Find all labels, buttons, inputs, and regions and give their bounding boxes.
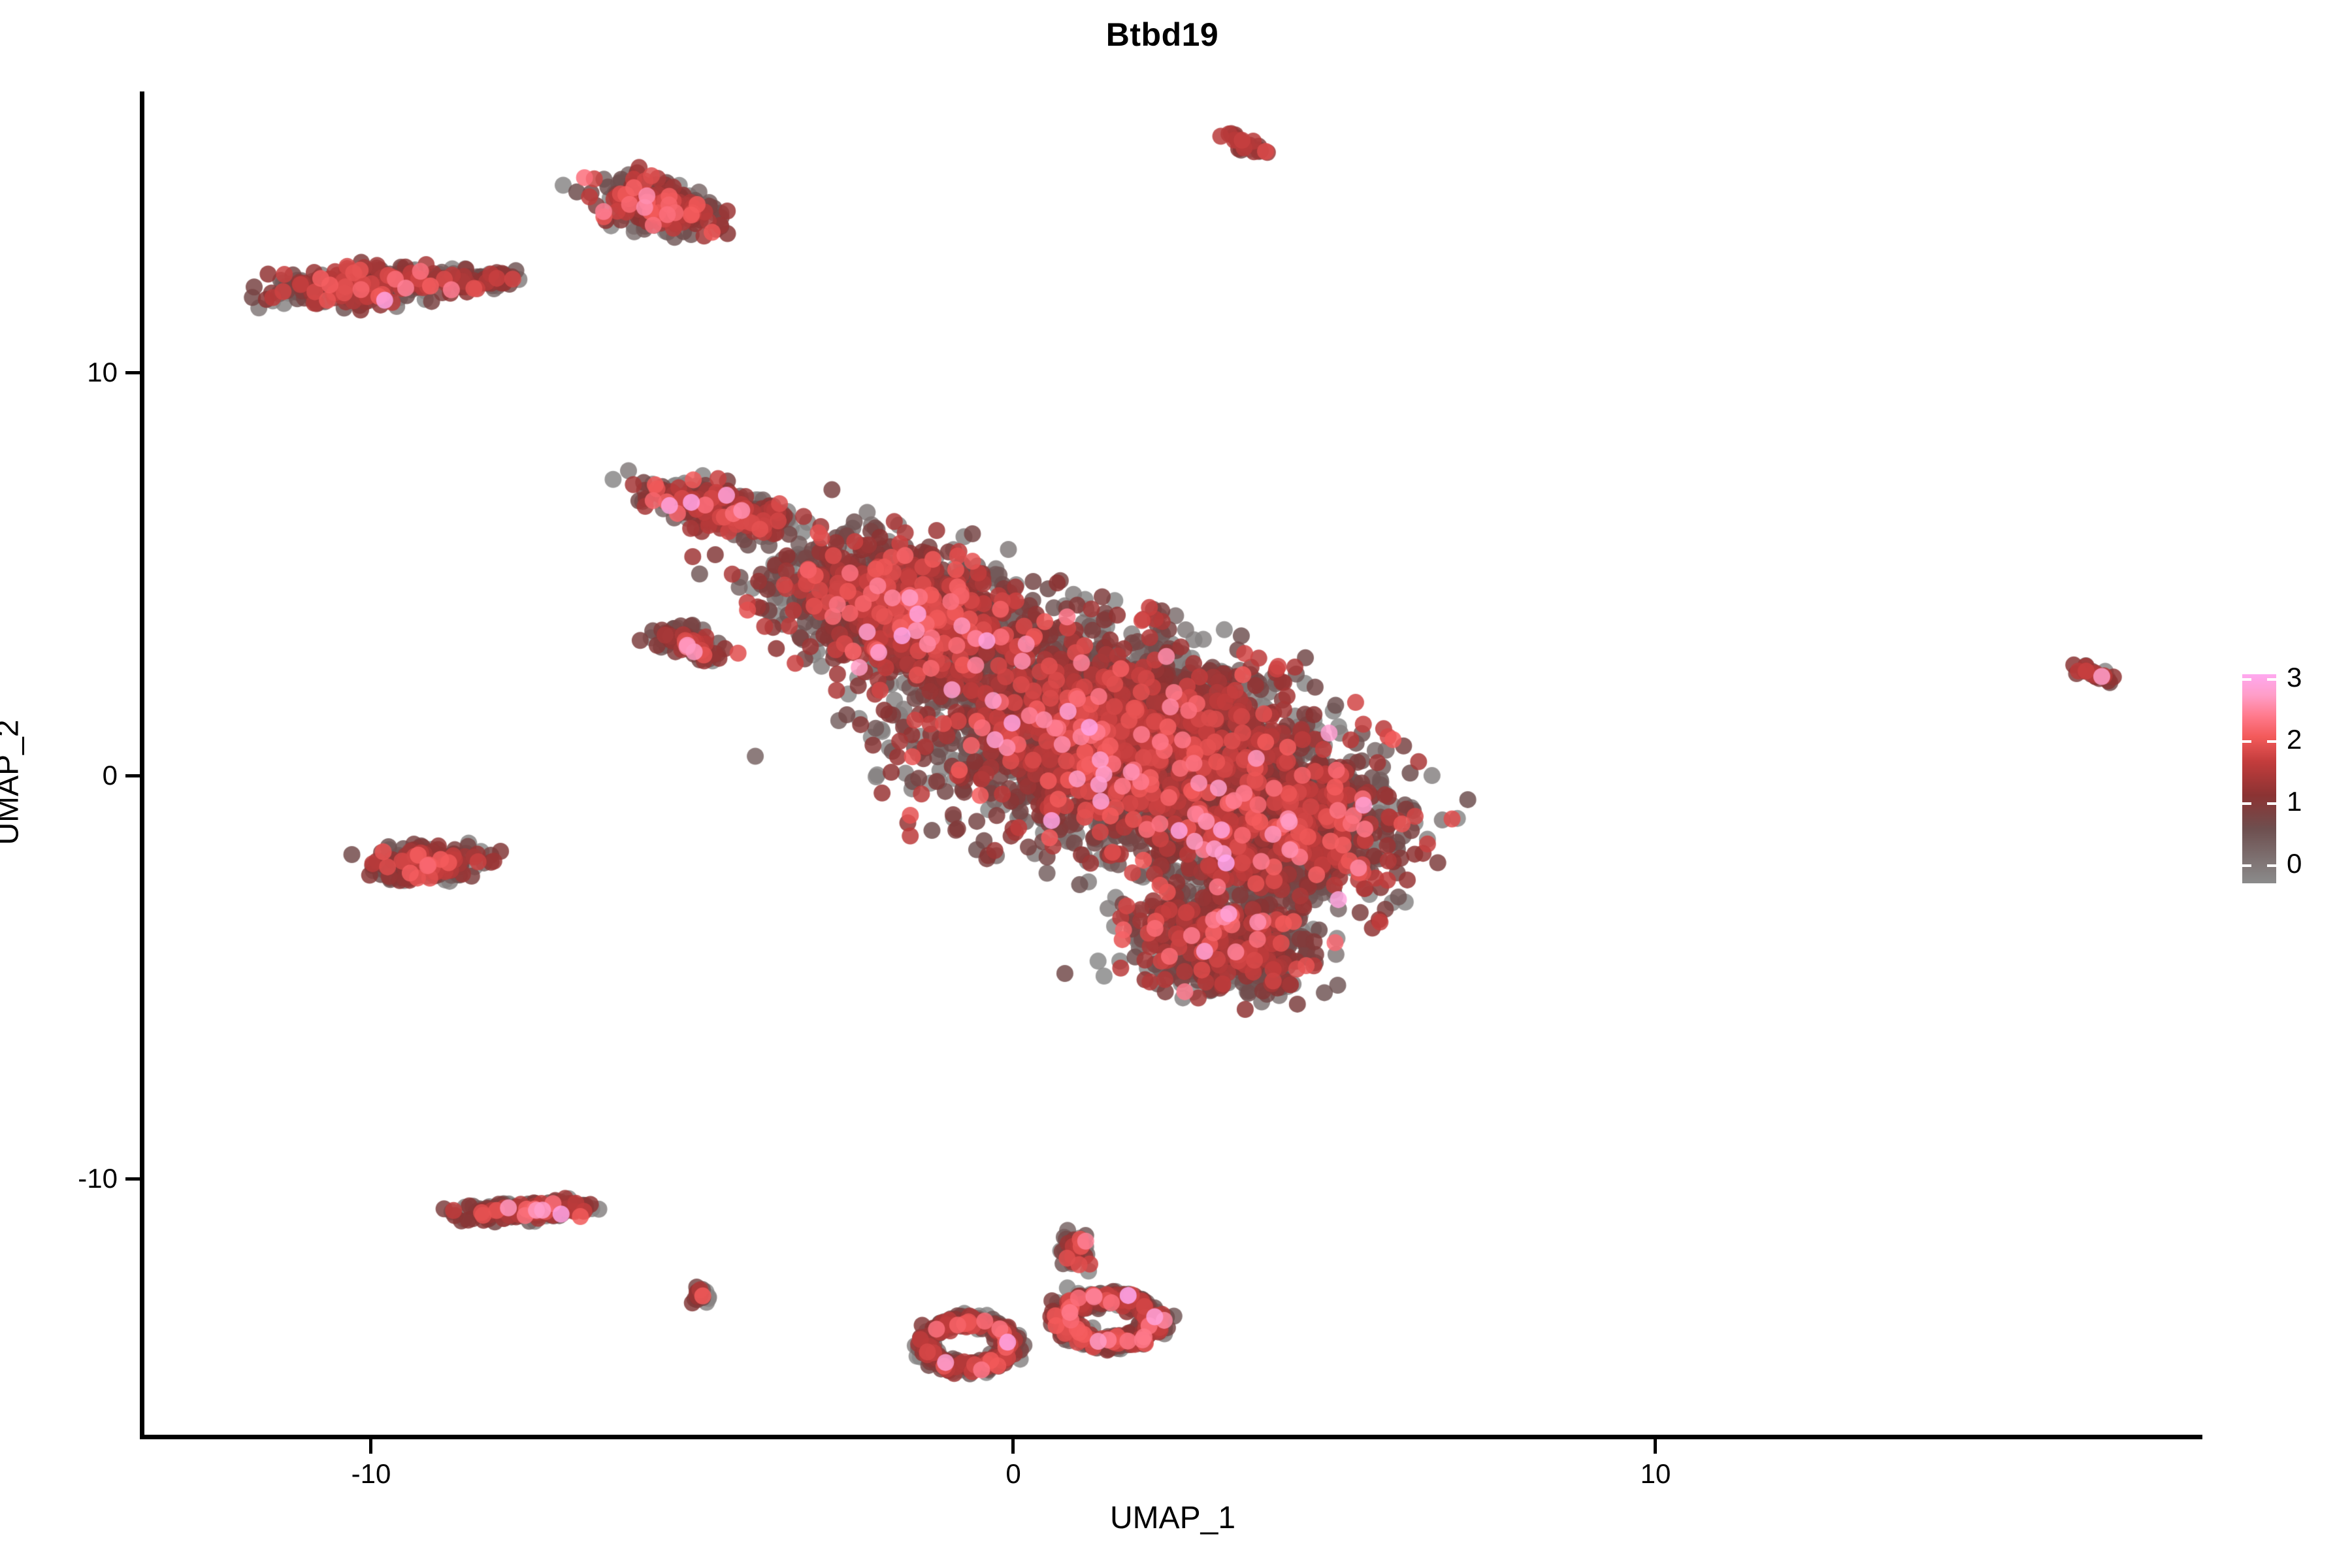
x-tick-mark-neg10	[369, 1439, 372, 1454]
y-tick-label-0: 0	[103, 760, 118, 791]
plot-panel	[144, 91, 2202, 1437]
page-title: Btbd19	[0, 16, 2338, 54]
colorbar-tick-3-right	[2267, 678, 2276, 681]
y-tick-mark-10	[125, 371, 140, 374]
colorbar-label-0: 0	[2287, 850, 2302, 877]
x-tick-label-10: 10	[1641, 1458, 1671, 1489]
x-axis-line	[140, 1435, 2202, 1439]
colorbar-tick-1-right	[2267, 802, 2276, 805]
color-legend: 3 2 1 0	[2242, 674, 2334, 883]
colorbar-gradient	[2242, 674, 2276, 883]
x-tick-label-neg10-wrap: -10	[306, 1458, 436, 1490]
colorbar-tick-2-right	[2267, 740, 2276, 743]
colorbar-tick-1-left	[2242, 802, 2251, 805]
y-tick-label-neg10: -10	[78, 1163, 118, 1194]
x-tick-label-10-wrap: 10	[1590, 1458, 1721, 1490]
colorbar-tick-0-left	[2242, 864, 2251, 867]
colorbar-tick-2-left	[2242, 740, 2251, 743]
y-tick-mark-0	[125, 774, 140, 777]
x-axis-title: UMAP_1	[144, 1500, 2202, 1536]
colorbar-label-1: 1	[2287, 788, 2302, 815]
colorbar-tick-3-left	[2242, 678, 2251, 681]
y-tick-mark-neg10	[125, 1177, 140, 1181]
x-tick-mark-0	[1011, 1439, 1015, 1454]
x-tick-mark-10	[1654, 1439, 1657, 1454]
scatter-canvas	[144, 91, 2202, 1437]
x-tick-label-neg10: -10	[351, 1458, 391, 1489]
umap-feature-plot: Btbd19 10 0 -10 -10 0 10 UMAP_1 UMAP_2	[0, 0, 2352, 1568]
y-axis-line	[140, 91, 144, 1439]
colorbar-label-3: 3	[2287, 664, 2302, 691]
y-tick-label-10: 10	[87, 357, 118, 387]
x-tick-label-0: 0	[1005, 1458, 1021, 1489]
y-axis-title: UMAP_2	[0, 110, 26, 1456]
x-tick-label-0-wrap: 0	[948, 1458, 1079, 1490]
colorbar-tick-0-right	[2267, 864, 2276, 867]
colorbar-label-2: 2	[2287, 726, 2302, 753]
